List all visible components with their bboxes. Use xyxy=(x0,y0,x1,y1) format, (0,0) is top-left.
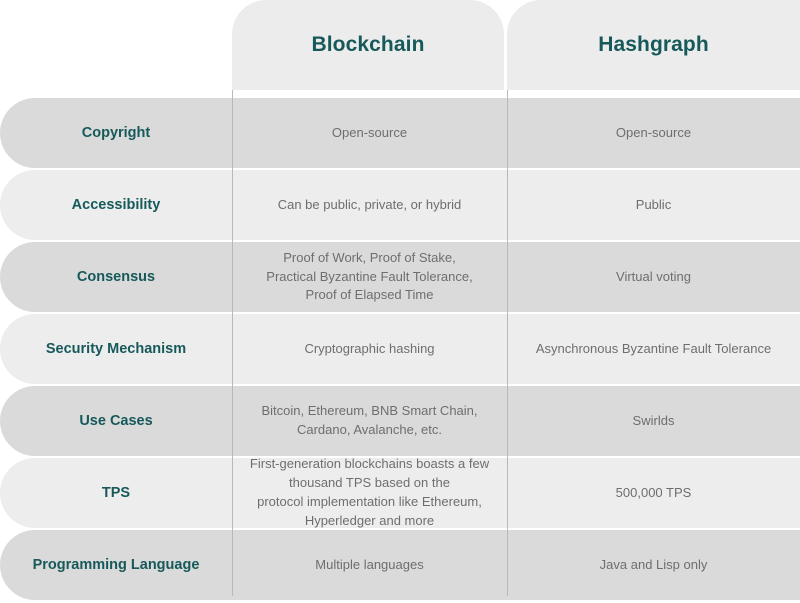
table-row: Security Mechanism Cryptographic hashing… xyxy=(0,314,800,384)
cell-hashgraph-value: Swirlds xyxy=(633,412,675,431)
table-row: TPS First-generation blockchains boasts … xyxy=(0,458,800,528)
row-label-cell: Consensus xyxy=(0,242,232,312)
cell-hashgraph-value: Open-source xyxy=(616,124,691,143)
cell-hashgraph-value: Public xyxy=(636,196,671,215)
column-divider-right xyxy=(507,90,508,596)
cell-blockchain: Cryptographic hashing xyxy=(232,314,507,384)
table-row: Use Cases Bitcoin, Ethereum, BNB Smart C… xyxy=(0,386,800,456)
row-label-cell: TPS xyxy=(0,458,232,528)
cell-hashgraph: Asynchronous Byzantine Fault Tolerance xyxy=(507,314,800,384)
cell-hashgraph: Open-source xyxy=(507,98,800,168)
row-label-cell: Programming Language xyxy=(0,530,232,600)
column-header-hashgraph-label: Hashgraph xyxy=(598,33,709,57)
cell-hashgraph-value: Virtual voting xyxy=(616,268,691,287)
row-label-cell: Security Mechanism xyxy=(0,314,232,384)
cell-blockchain-value: Cryptographic hashing xyxy=(304,340,434,359)
row-label: Security Mechanism xyxy=(46,340,186,358)
cell-hashgraph-value: 500,000 TPS xyxy=(616,484,692,503)
row-label-cell: Use Cases xyxy=(0,386,232,456)
row-label: TPS xyxy=(102,484,130,502)
column-header-blockchain: Blockchain xyxy=(232,0,504,90)
row-label: Programming Language xyxy=(33,556,200,574)
cell-blockchain: Multiple languages xyxy=(232,530,507,600)
column-divider-left xyxy=(232,90,233,596)
cell-blockchain-value: Proof of Work, Proof of Stake, Practical… xyxy=(266,249,472,306)
cell-hashgraph: Public xyxy=(507,170,800,240)
cell-hashgraph: Virtual voting xyxy=(507,242,800,312)
cell-blockchain: Bitcoin, Ethereum, BNB Smart Chain, Card… xyxy=(232,386,507,456)
cell-blockchain: First-generation blockchains boasts a fe… xyxy=(232,458,507,528)
cell-blockchain: Can be public, private, or hybrid xyxy=(232,170,507,240)
row-label: Accessibility xyxy=(72,196,161,214)
row-label: Use Cases xyxy=(79,412,152,430)
cell-blockchain-value: Bitcoin, Ethereum, BNB Smart Chain, Card… xyxy=(261,402,477,440)
cell-blockchain-value: First-generation blockchains boasts a fe… xyxy=(250,455,489,530)
row-label-cell: Copyright xyxy=(0,98,232,168)
comparison-table: Blockchain Hashgraph Copyright Open-sour… xyxy=(0,0,800,603)
cell-hashgraph: Java and Lisp only xyxy=(507,530,800,600)
cell-hashgraph: Swirlds xyxy=(507,386,800,456)
cell-hashgraph-value: Asynchronous Byzantine Fault Tolerance xyxy=(536,340,771,359)
cell-blockchain-value: Open-source xyxy=(332,124,407,143)
table-row: Programming Language Multiple languages … xyxy=(0,530,800,600)
table-body: Copyright Open-source Open-source Access… xyxy=(0,90,800,602)
column-header-hashgraph: Hashgraph xyxy=(507,0,800,90)
cell-hashgraph-value: Java and Lisp only xyxy=(600,556,708,575)
table-row: Copyright Open-source Open-source xyxy=(0,98,800,168)
cell-blockchain: Proof of Work, Proof of Stake, Practical… xyxy=(232,242,507,312)
row-label: Copyright xyxy=(82,124,150,142)
table-row: Consensus Proof of Work, Proof of Stake,… xyxy=(0,242,800,312)
cell-blockchain-value: Multiple languages xyxy=(315,556,423,575)
cell-blockchain-value: Can be public, private, or hybrid xyxy=(278,196,462,215)
row-label-cell: Accessibility xyxy=(0,170,232,240)
column-header-blockchain-label: Blockchain xyxy=(311,33,424,57)
cell-hashgraph: 500,000 TPS xyxy=(507,458,800,528)
row-label: Consensus xyxy=(77,268,155,286)
table-header-row: Blockchain Hashgraph xyxy=(0,0,800,90)
cell-blockchain: Open-source xyxy=(232,98,507,168)
table-row: Accessibility Can be public, private, or… xyxy=(0,170,800,240)
